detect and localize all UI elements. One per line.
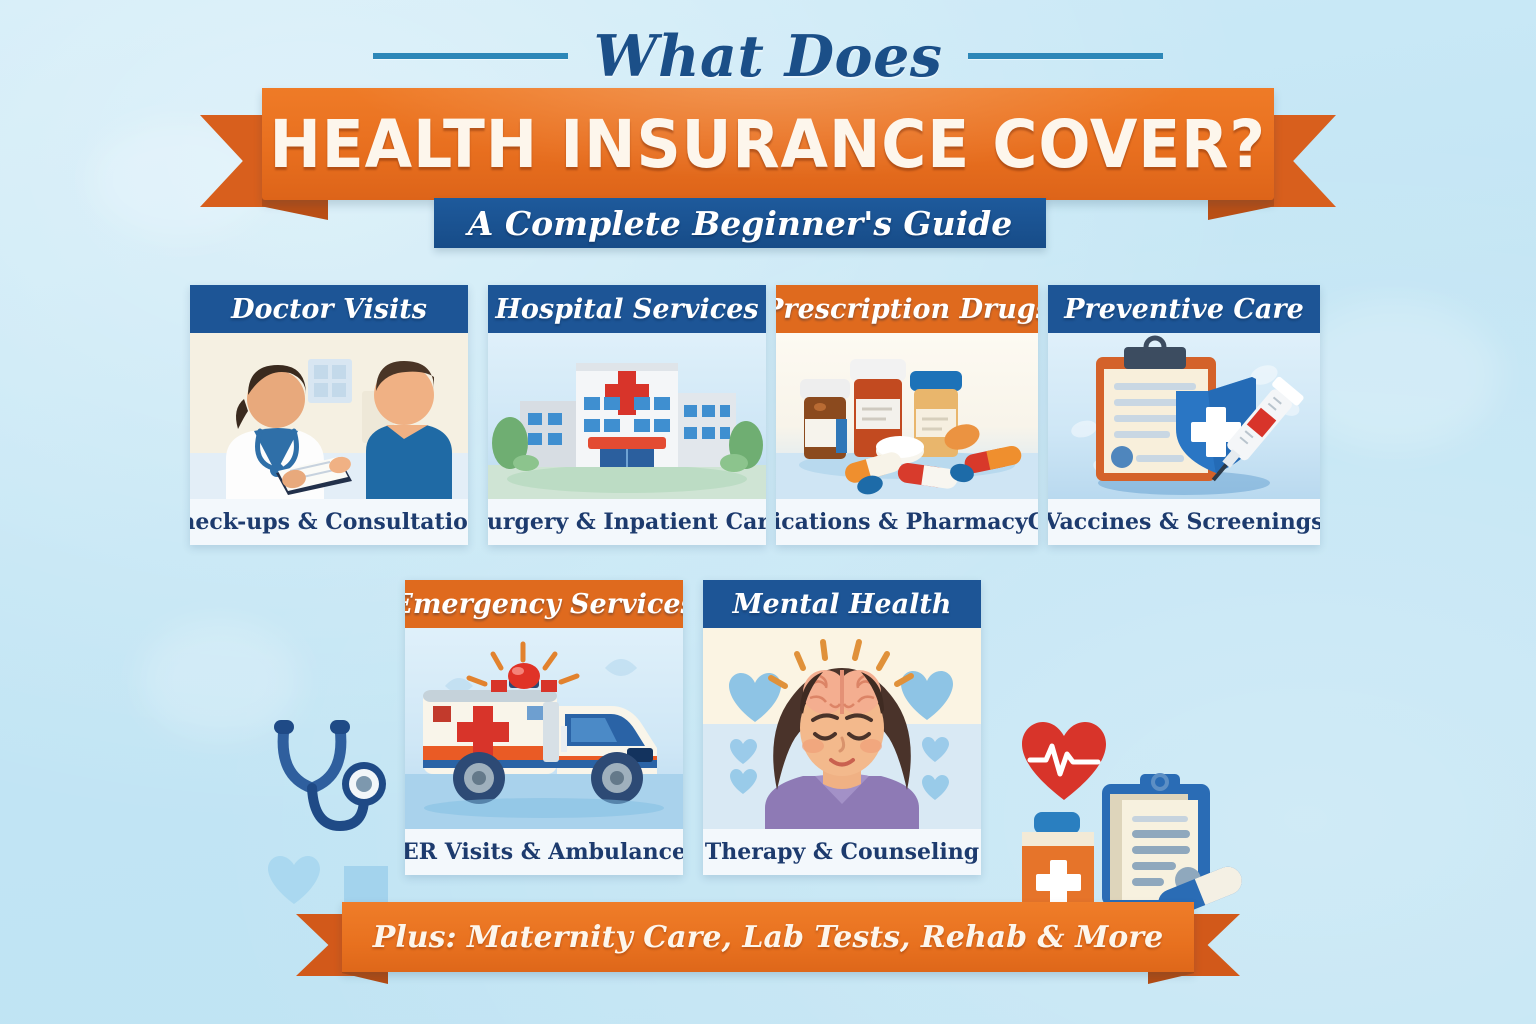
card-mental-health[interactable]: Mental Health xyxy=(703,580,981,875)
card-footer: ER Visits & Ambulance xyxy=(405,829,683,875)
footer-banner-text: Plus: Maternity Care, Lab Tests, Rehab &… xyxy=(373,920,1163,955)
infographic-canvas: What Does HEALTH INSURANCE COVER? A Comp… xyxy=(0,0,1536,1024)
page-title-main: HEALTH INSURANCE COVER? xyxy=(270,106,1266,183)
card-caption: Therapy & Counseling xyxy=(705,839,979,865)
card-emergency-services[interactable]: Emergency Services xyxy=(405,580,683,875)
heart-pulse-icon xyxy=(1020,722,1108,802)
card-title: Mental Health xyxy=(733,589,952,620)
page-title-top: What Does xyxy=(594,23,943,90)
card-header: Doctor Visits xyxy=(190,285,468,333)
pill-bottles-and-capsules-illustration xyxy=(776,333,1038,499)
medications-svg xyxy=(776,333,1038,499)
card-caption: Check-ups & Consultations xyxy=(190,509,468,535)
hospital-svg xyxy=(488,333,766,499)
ambulance-svg xyxy=(405,628,683,829)
card-title: Prescription Drugs xyxy=(776,294,1038,325)
stethoscope-icon xyxy=(256,714,396,864)
header: What Does HEALTH INSURANCE COVER? A Comp… xyxy=(0,0,1536,260)
doctor-patient-consultation-illustration xyxy=(190,333,468,499)
title-rule-left xyxy=(373,53,568,59)
card-header: Mental Health xyxy=(703,580,981,628)
card-title: Doctor Visits xyxy=(231,294,427,325)
clipboard-shield-syringe-illustration xyxy=(1048,333,1320,499)
card-footer: Therapy & Counseling xyxy=(703,829,981,875)
card-caption: ER Visits & Ambulance xyxy=(405,839,683,865)
mental-health-svg xyxy=(703,628,981,829)
doctor-visit-svg xyxy=(190,333,468,499)
page-subtitle: A Complete Beginner's Guide xyxy=(468,204,1012,243)
title-rule-right xyxy=(968,53,1163,59)
card-footer: Surgery & Inpatient Care xyxy=(488,499,766,545)
background-texture-blob xyxy=(1290,300,1500,450)
card-footer: Vaccines & Screenings xyxy=(1048,499,1320,545)
card-header: Hospital Services xyxy=(488,285,766,333)
card-footer: Check-ups & Consultations xyxy=(190,499,468,545)
card-preventive-care[interactable]: Preventive Care xyxy=(1048,285,1320,545)
subtitle-banner: A Complete Beginner's Guide xyxy=(434,198,1046,248)
card-caption: Medications & PharmacyCosts xyxy=(776,509,1038,535)
hospital-building-illustration xyxy=(488,333,766,499)
card-header: Preventive Care xyxy=(1048,285,1320,333)
card-hospital-services[interactable]: Hospital Services xyxy=(488,285,766,545)
card-header: Emergency Services xyxy=(405,580,683,628)
card-footer: Medications & PharmacyCosts xyxy=(776,499,1038,545)
card-caption: Vaccines & Screenings xyxy=(1048,509,1320,535)
card-title: Preventive Care xyxy=(1064,294,1304,325)
card-prescription-drugs[interactable]: Prescription Drugs xyxy=(776,285,1038,545)
woman-with-brain-illustration xyxy=(703,628,981,829)
card-title: Emergency Services xyxy=(405,589,683,620)
title-row: What Does xyxy=(0,18,1536,94)
footer-ribbon: Plus: Maternity Care, Lab Tests, Rehab &… xyxy=(0,900,1536,1000)
ambulance-illustration xyxy=(405,628,683,829)
card-doctor-visits[interactable]: Doctor Visits xyxy=(190,285,468,545)
card-title: Hospital Services xyxy=(495,294,758,325)
ribbon-body: HEALTH INSURANCE COVER? xyxy=(262,88,1274,200)
card-header: Prescription Drugs xyxy=(776,285,1038,333)
decorative-square-shape xyxy=(344,866,388,904)
footer-ribbon-body: Plus: Maternity Care, Lab Tests, Rehab &… xyxy=(342,902,1194,972)
card-caption: Surgery & Inpatient Care xyxy=(488,509,766,535)
preventive-care-svg xyxy=(1048,333,1320,499)
